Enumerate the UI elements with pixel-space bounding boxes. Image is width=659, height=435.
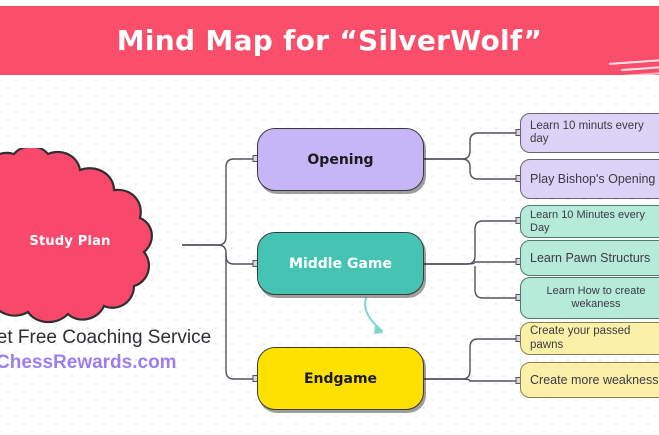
root-node-label: Study Plan — [0, 148, 190, 334]
leaf-node-label: Learn 10 Minutes every Day — [530, 209, 659, 234]
promo-headline: Get Free Coaching Service — [0, 326, 242, 350]
mind-map-canvas: Mind Map for “SilverWolf” — [0, 0, 659, 435]
leaf-node-endgame-2[interactable]: Create more weakness — [520, 362, 659, 398]
banner-decoration-line — [609, 59, 659, 65]
banner-decoration-line — [621, 66, 659, 71]
connector-opening-to-leaf-1 — [424, 133, 520, 159]
leaf-node-label: Learn 10 minuts every day — [530, 120, 659, 146]
promo-text: Get Free Coaching Service ChessRewards.c… — [0, 326, 242, 375]
leaf-node-label: Create your passed pawns — [530, 325, 659, 351]
leaf-node-opening-2[interactable]: Play Bishop's Opening — [520, 159, 659, 199]
branch-node-middle-game-label: Middle Game — [289, 256, 392, 272]
leaf-node-label: Create more weakness — [530, 373, 659, 387]
leaf-node-label: Play Bishop's Opening — [530, 172, 655, 186]
connector-middlegame-to-leaf-1 — [424, 221, 520, 264]
root-node-study-plan[interactable]: Study Plan — [0, 148, 190, 334]
leaf-node-label: Learn How to create wekaness — [530, 285, 659, 310]
banner-decoration-line — [605, 72, 659, 75]
annotation-arrow-icon — [365, 298, 383, 334]
leaf-node-opening-1[interactable]: Learn 10 minuts every day — [520, 113, 659, 153]
connector-root-to-opening — [182, 159, 257, 245]
branch-node-opening-label: Opening — [307, 152, 373, 168]
promo-website-link[interactable]: ChessRewards.com — [0, 350, 242, 376]
connector-endgame-to-leaf-2 — [424, 379, 520, 381]
branch-node-endgame-label: Endgame — [304, 371, 377, 387]
leaf-node-endgame-1[interactable]: Create your passed pawns — [520, 322, 659, 355]
connector-middlegame-to-leaf-2 — [424, 262, 520, 264]
connector-root-to-middlegame — [182, 245, 257, 264]
page-title: Mind Map for “SilverWolf” — [117, 24, 543, 57]
leaf-node-middle-game-2[interactable]: Learn Pawn Structurs — [520, 240, 659, 276]
branch-node-endgame[interactable]: Endgame — [257, 347, 424, 410]
branch-node-middle-game[interactable]: Middle Game — [257, 232, 424, 295]
title-banner: Mind Map for “SilverWolf” — [0, 6, 659, 75]
connector-endgame-to-leaf-1 — [424, 339, 520, 379]
connector-middlegame-to-leaf-3 — [475, 266, 520, 298]
connector-opening-to-leaf-2 — [424, 159, 520, 179]
leaf-node-label: Learn Pawn Structurs — [530, 251, 650, 265]
leaf-node-middle-game-3[interactable]: Learn How to create wekaness — [520, 277, 659, 319]
branch-node-opening[interactable]: Opening — [257, 128, 424, 191]
leaf-node-middle-game-1[interactable]: Learn 10 Minutes every Day — [520, 205, 659, 238]
